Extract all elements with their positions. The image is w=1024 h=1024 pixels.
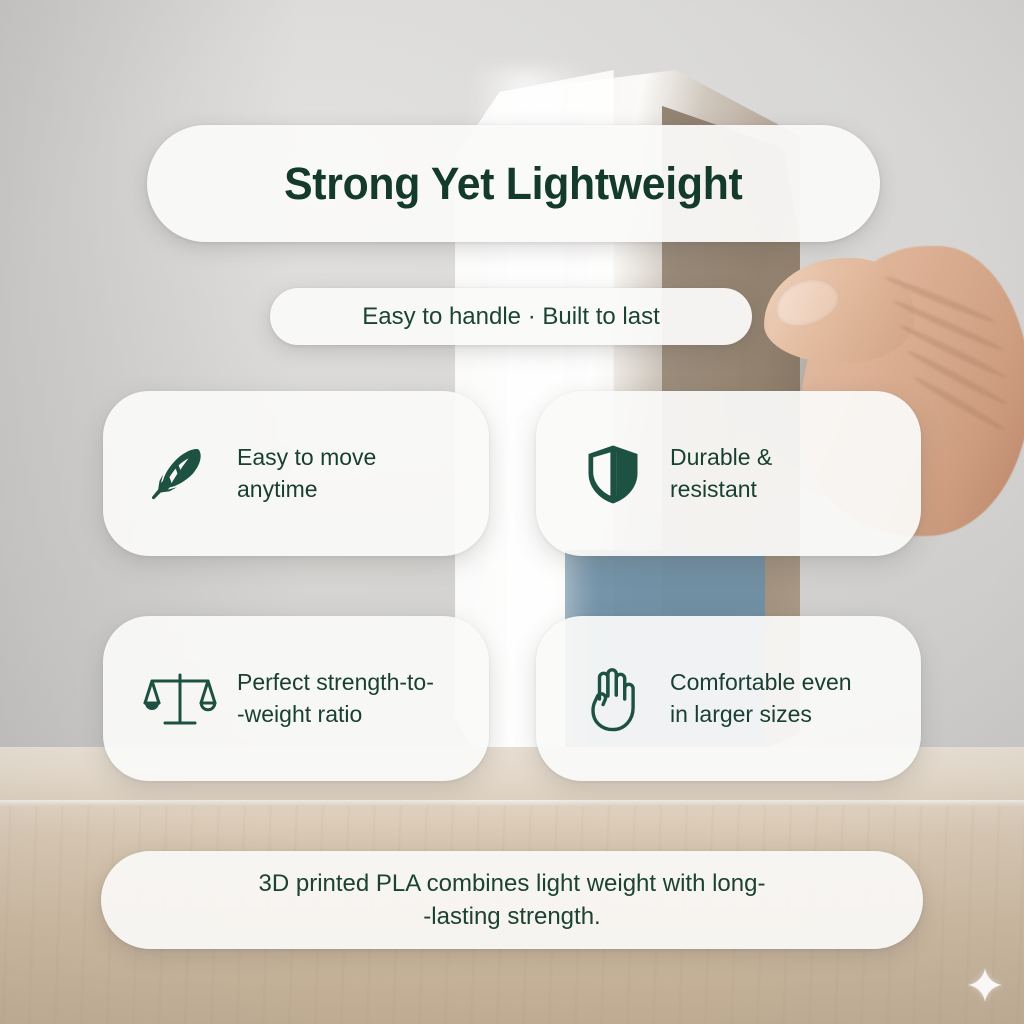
feature-label-line2: anytime bbox=[237, 476, 318, 502]
title-pill: Strong Yet Lightweight bbox=[147, 125, 880, 242]
feature-card-easy-to-move[interactable]: Easy to move anytime bbox=[103, 391, 489, 556]
overlay-ui: Strong Yet Lightweight Easy to handle · … bbox=[0, 0, 1024, 1024]
feature-card-strength-to-weight[interactable]: Perfect strength-to- -weight ratio bbox=[103, 616, 489, 781]
feature-label-line2: -weight ratio bbox=[237, 701, 362, 727]
feature-label: Comfortable even in larger sizes bbox=[670, 667, 852, 730]
shield-icon bbox=[574, 435, 652, 513]
feature-label: Durable & resistant bbox=[670, 442, 772, 505]
subtitle-pill: Easy to handle · Built to last bbox=[270, 288, 752, 345]
footer-line2: -lasting strength. bbox=[423, 903, 600, 930]
footer-line1: 3D printed PLA combines light weight wit… bbox=[259, 870, 766, 897]
sparkle-icon bbox=[968, 968, 1002, 1002]
feature-label-line1: Comfortable even bbox=[670, 669, 852, 695]
footer-pill: 3D printed PLA combines light weight wit… bbox=[101, 851, 923, 949]
feature-label-line2: resistant bbox=[670, 476, 757, 502]
feature-label-line1: Easy to move bbox=[237, 444, 376, 470]
balance-scale-icon bbox=[141, 660, 219, 738]
feature-label-line1: Durable & bbox=[670, 444, 772, 470]
feather-icon bbox=[141, 435, 219, 513]
feature-card-durable[interactable]: Durable & resistant bbox=[536, 391, 921, 556]
page-subtitle: Easy to handle · Built to last bbox=[362, 303, 660, 331]
feature-label: Perfect strength-to- -weight ratio bbox=[237, 667, 434, 730]
feature-label-line1: Perfect strength-to- bbox=[237, 669, 434, 695]
footer-caption: 3D printed PLA combines light weight wit… bbox=[219, 867, 806, 933]
feature-label: Easy to move anytime bbox=[237, 442, 376, 505]
feature-label-line2: in larger sizes bbox=[670, 701, 812, 727]
infographic-canvas: Strong Yet Lightweight Easy to handle · … bbox=[0, 0, 1024, 1024]
feature-card-comfortable[interactable]: Comfortable even in larger sizes bbox=[536, 616, 921, 781]
page-title: Strong Yet Lightweight bbox=[284, 158, 742, 210]
hand-icon bbox=[574, 660, 652, 738]
